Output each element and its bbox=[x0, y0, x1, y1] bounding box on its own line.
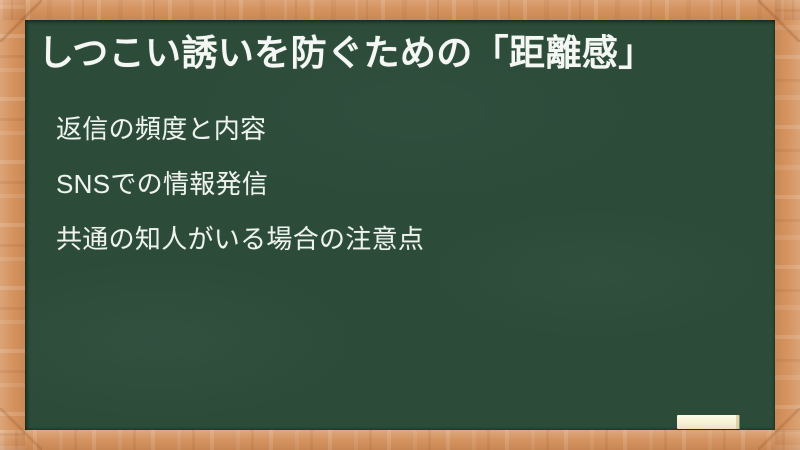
frame-right-stile bbox=[775, 0, 800, 450]
frame-top-rail bbox=[0, 0, 800, 20]
list-item: 返信の頻度と内容 bbox=[56, 102, 746, 157]
bullet-list: 返信の頻度と内容 SNSでの情報発信 共通の知人がいる場合の注意点 bbox=[56, 102, 746, 267]
frame-bottom-ledge bbox=[0, 430, 800, 450]
chalkboard-surface: しつこい誘いを防ぐための「距離感」 返信の頻度と内容 SNSでの情報発信 共通の… bbox=[25, 20, 775, 430]
chalk-stick bbox=[677, 415, 739, 429]
frame-left-stile bbox=[0, 0, 25, 450]
slide-title: しつこい誘いを防ぐための「距離感」 bbox=[38, 29, 758, 77]
list-item: 共通の知人がいる場合の注意点 bbox=[56, 212, 746, 267]
blackboard-slide: しつこい誘いを防ぐための「距離感」 返信の頻度と内容 SNSでの情報発信 共通の… bbox=[0, 0, 800, 450]
list-item: SNSでの情報発信 bbox=[56, 157, 746, 212]
